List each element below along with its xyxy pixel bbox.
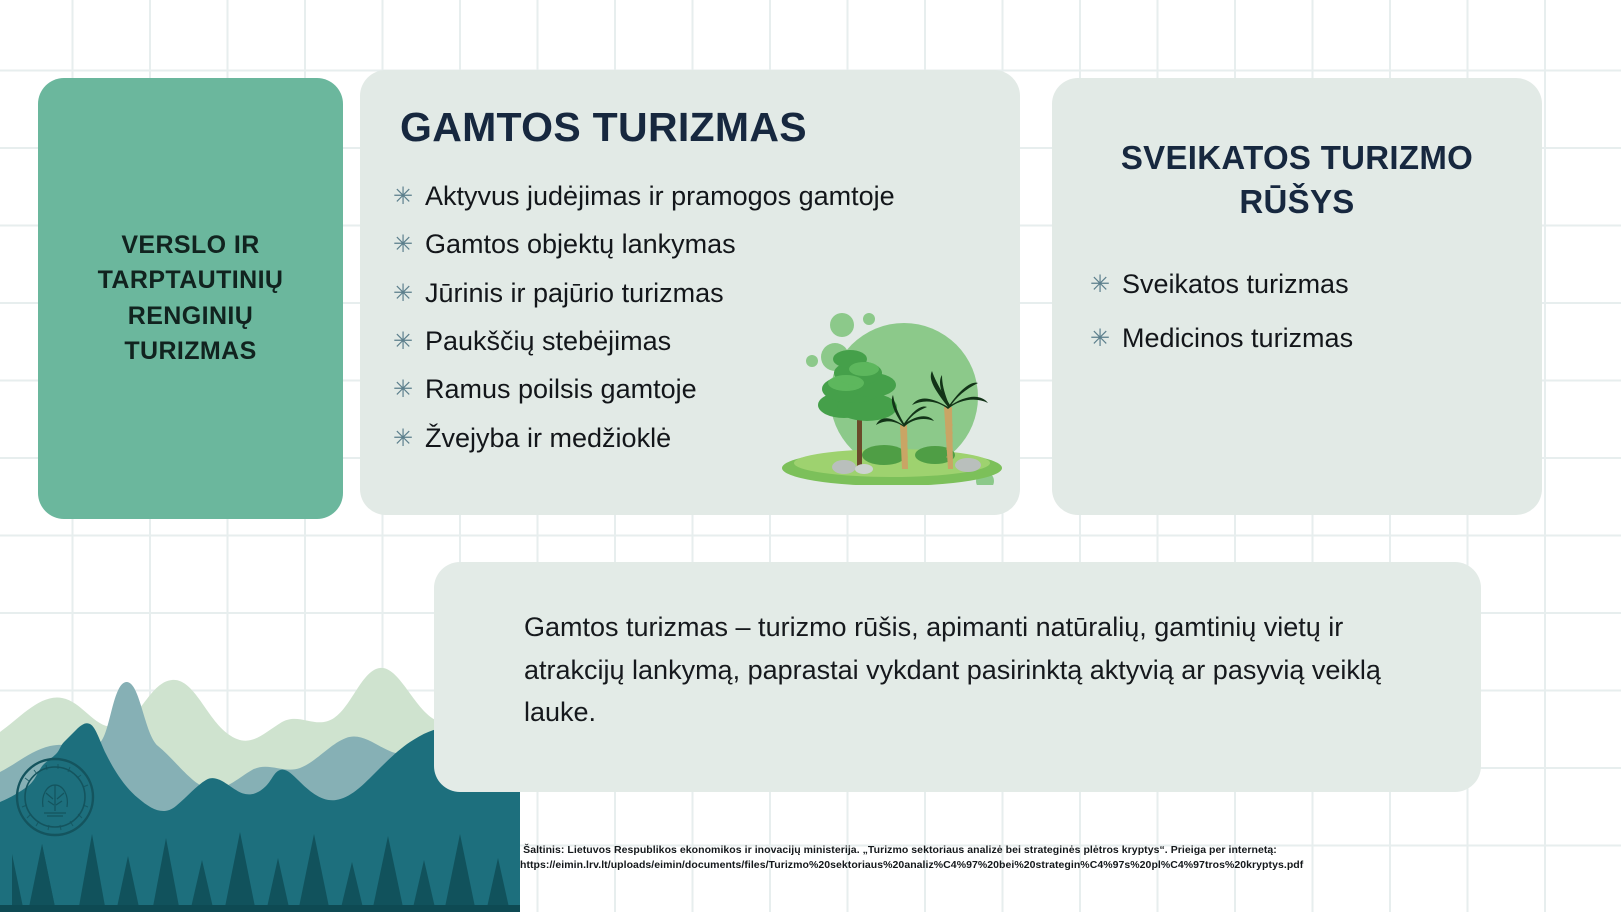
card-left-title: VERSLO IR TARPTAUTINIŲ RENGINIŲ TURIZMAS [84,228,298,370]
asterisk-bullet-icon: ✳ [393,427,425,451]
asterisk-bullet-icon: ✳ [1090,327,1122,351]
asterisk-bullet-icon: ✳ [393,282,425,306]
list-item[interactable]: ✳Sveikatos turizmas [1090,270,1353,298]
list-item-label: Žvejyba ir medžioklė [425,424,671,452]
list-item[interactable]: ✳Jūrinis ir pajūrio turizmas [393,279,895,307]
health-card-heading: SVEIKATOS TURIZMO RŪŠYS [1052,136,1542,223]
list-item[interactable]: ✳Gamtos objektų lankymas [393,230,895,258]
list-item-label: Paukščių stebėjimas [425,327,671,355]
asterisk-bullet-icon: ✳ [393,185,425,209]
list-item-label: Gamtos objektų lankymas [425,230,736,258]
asterisk-bullet-icon: ✳ [393,378,425,402]
list-item-label: Medicinos turizmas [1122,324,1353,352]
citation-line-1: Šaltinis: Lietuvos Respublikos ekonomiko… [520,843,1280,858]
card-nature-tourism-definition: Gamtos turizmas – turizmo rūšis, apimant… [434,562,1481,792]
card-business-events-tourism[interactable]: VERSLO IR TARPTAUTINIŲ RENGINIŲ TURIZMAS [38,78,343,519]
asterisk-bullet-icon: ✳ [393,233,425,257]
asterisk-bullet-icon: ✳ [1090,273,1122,297]
list-item[interactable]: ✳Medicinos turizmas [1090,324,1353,352]
list-item[interactable]: ✳Ramus poilsis gamtoje [393,375,895,403]
nature-card-heading: GAMTOS TURIZMAS [400,104,807,151]
card-health-tourism[interactable]: SVEIKATOS TURIZMO RŪŠYS ✳Sveikatos turiz… [1052,78,1542,515]
slide-canvas: VERSLO IR TARPTAUTINIŲ RENGINIŲ TURIZMAS… [0,0,1621,912]
list-item[interactable]: ✳Paukščių stebėjimas [393,327,895,355]
card-nature-tourism[interactable]: GAMTOS TURIZMAS [360,70,1020,515]
list-item-label: Sveikatos turizmas [1122,270,1349,298]
source-citation: Šaltinis: Lietuvos Respublikos ekonomiko… [520,843,1280,873]
list-item[interactable]: ✳Aktyvus judėjimas ir pramogos gamtoje [393,182,895,210]
nature-tourism-list: ✳Aktyvus judėjimas ir pramogos gamtoje ✳… [393,182,895,472]
citation-line-2[interactable]: https://eimin.lrv.lt/uploads/eimin/docum… [520,858,1280,873]
list-item-label: Jūrinis ir pajūrio turizmas [425,279,724,307]
health-tourism-list: ✳Sveikatos turizmas ✳Medicinos turizmas [1090,270,1353,379]
list-item[interactable]: ✳Žvejyba ir medžioklė [393,424,895,452]
list-item-label: Ramus poilsis gamtoje [425,375,697,403]
definition-text: Gamtos turizmas – turizmo rūšis, apimant… [524,606,1444,734]
list-item-label: Aktyvus judėjimas ir pramogos gamtoje [425,182,895,210]
asterisk-bullet-icon: ✳ [393,330,425,354]
